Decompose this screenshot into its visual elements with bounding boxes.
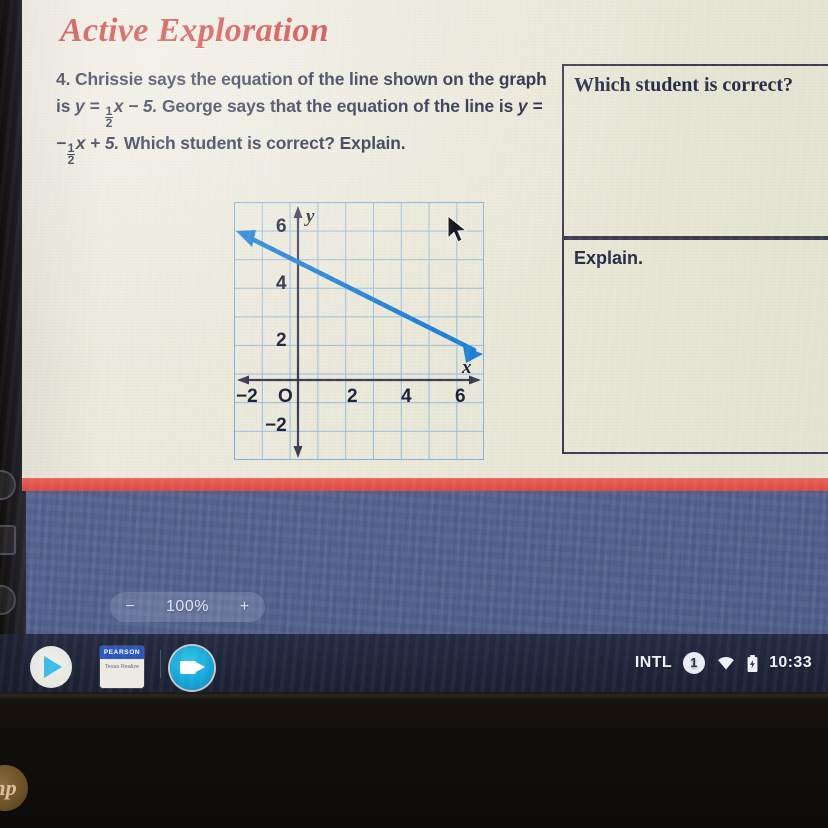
line-arrow-upper-left [236, 230, 256, 247]
page-title: Active Exploration [60, 12, 329, 50]
y-tick-label-neg2: −2 [265, 415, 287, 437]
problem-statement: 4. Chrissie says the equation of the lin… [56, 66, 548, 167]
wifi-icon[interactable] [716, 655, 736, 671]
camera-lens-shape [196, 662, 205, 672]
zoom-control[interactable]: − 100% + [110, 592, 265, 622]
google-play-icon[interactable] [30, 646, 72, 688]
y-axis-arrow-down [294, 446, 303, 458]
y-axis-arrow-up [294, 206, 303, 218]
google-meet-icon[interactable] [170, 646, 214, 690]
x-tick-label-2: 2 [347, 386, 358, 408]
input-method-label[interactable]: INTL [635, 654, 672, 672]
mouse-cursor [446, 215, 468, 245]
x-tick-label-neg2: −2 [236, 386, 258, 408]
y-axis-label: y [306, 206, 314, 228]
system-tray[interactable]: INTL 1 10:33 [635, 648, 812, 678]
pearson-sub-label: Texas Realize [100, 659, 144, 671]
fraction-denominator: 2 [105, 118, 114, 129]
play-triangle-blue [44, 656, 62, 678]
origin-label: O [278, 386, 293, 408]
pearson-realize-icon[interactable]: PEARSON Texas Realize [100, 646, 144, 688]
clock[interactable]: 10:33 [769, 654, 812, 672]
laptop-deck [0, 700, 828, 828]
notification-badge[interactable]: 1 [683, 652, 705, 674]
answer-box-1-label: Which student is correct? [574, 74, 793, 97]
fraction-denominator: 2 [67, 155, 76, 166]
rail-button-2[interactable] [0, 525, 16, 555]
rail-button-1[interactable] [0, 470, 16, 500]
battery-icon[interactable] [747, 655, 758, 672]
fraction-one-half-a: 12 [105, 106, 114, 129]
zoom-in-button[interactable]: + [240, 598, 250, 616]
shelf-separator [160, 650, 161, 678]
equation-george-tail: x + 5. [76, 133, 119, 153]
y-tick-label-2: 2 [276, 330, 287, 352]
camera-body-shape [180, 661, 196, 674]
zoom-out-button[interactable]: − [125, 598, 135, 616]
x-tick-label-6: 6 [455, 386, 466, 408]
y-tick-label-6: 6 [276, 216, 287, 238]
answer-box-explain[interactable]: Explain. [562, 238, 828, 454]
answer-box-which-student[interactable]: Which student is correct? [562, 64, 828, 238]
laptop-screen: Active Exploration 4. Chrissie says the … [0, 0, 828, 694]
fraction-one-half-b: 12 [67, 143, 76, 166]
x-tick-label-4: 4 [401, 386, 412, 408]
zoom-level-label: 100% [166, 598, 209, 616]
y-tick-label-4: 4 [276, 273, 287, 295]
x-axis-arrow-left [237, 376, 249, 385]
photo-of-laptop-screen: Active Exploration 4. Chrissie says the … [0, 0, 828, 828]
worksheet-page: Active Exploration 4. Chrissie says the … [22, 0, 828, 480]
problem-text-2: George says that the equation of the lin… [157, 96, 518, 116]
pearson-brand-label: PEARSON [100, 646, 144, 659]
equation-chrissie-lead: y = [75, 96, 104, 116]
page-bottom-divider [22, 478, 828, 491]
answer-box-2-label: Explain. [574, 248, 643, 269]
problem-text-3: Which student is correct? Explain. [119, 133, 405, 153]
problem-number: 4. [56, 69, 70, 89]
rail-button-3[interactable] [0, 585, 16, 615]
x-axis-label: x [462, 357, 472, 379]
equation-chrissie-tail: x − 5. [114, 96, 157, 116]
equation-chrissie: y = 12x − 5. [75, 96, 157, 116]
